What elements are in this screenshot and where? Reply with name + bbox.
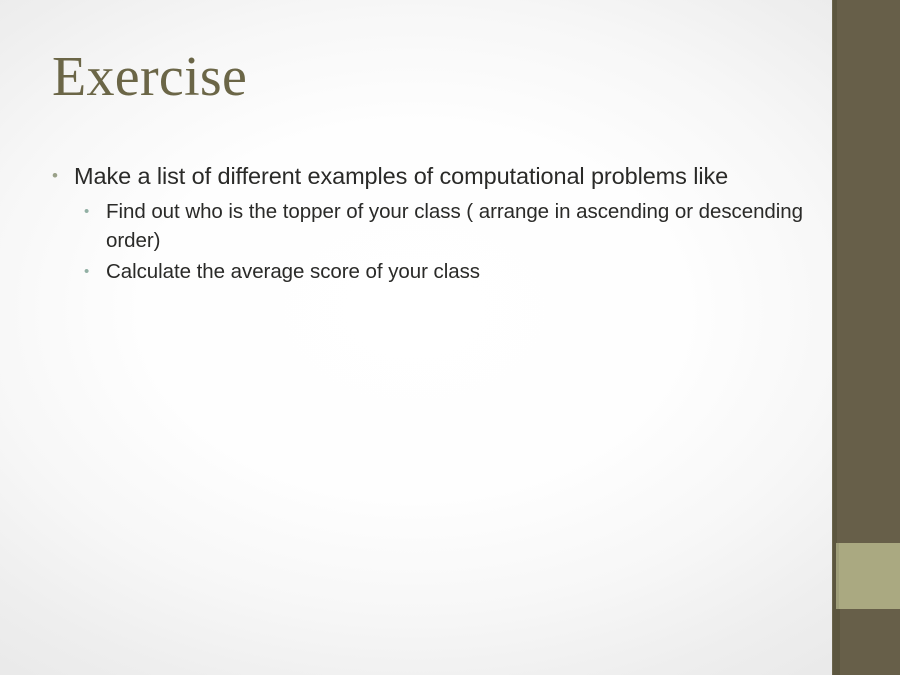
slide-title: Exercise bbox=[52, 48, 752, 107]
band-lower-panel bbox=[836, 609, 900, 675]
list-item: • Calculate the average score of your cl… bbox=[84, 258, 812, 286]
list-item: • Find out who is the topper of your cla… bbox=[84, 198, 812, 255]
bullet-level2-text: Find out who is the topper of your class… bbox=[106, 198, 812, 255]
list-item: • Make a list of different examples of c… bbox=[52, 160, 812, 192]
band-accent-block bbox=[836, 543, 900, 609]
sub-bullet-dot-icon: • bbox=[84, 258, 106, 279]
sub-bullet-dot-icon: • bbox=[84, 198, 106, 219]
slide-body: • Make a list of different examples of c… bbox=[52, 160, 812, 289]
band-lower-edge-stripe bbox=[836, 609, 840, 675]
sub-bullet-list: • Find out who is the topper of your cla… bbox=[84, 198, 812, 286]
slide-decorative-band bbox=[832, 0, 900, 675]
bullet-level2-text: Calculate the average score of your clas… bbox=[106, 258, 812, 286]
bullet-level1-text: Make a list of different examples of com… bbox=[74, 160, 812, 192]
presentation-slide: Exercise • Make a list of different exam… bbox=[0, 0, 900, 675]
band-hairline bbox=[832, 0, 833, 675]
bullet-dot-icon: • bbox=[52, 160, 74, 184]
band-accent-edge-stripe bbox=[836, 543, 839, 609]
